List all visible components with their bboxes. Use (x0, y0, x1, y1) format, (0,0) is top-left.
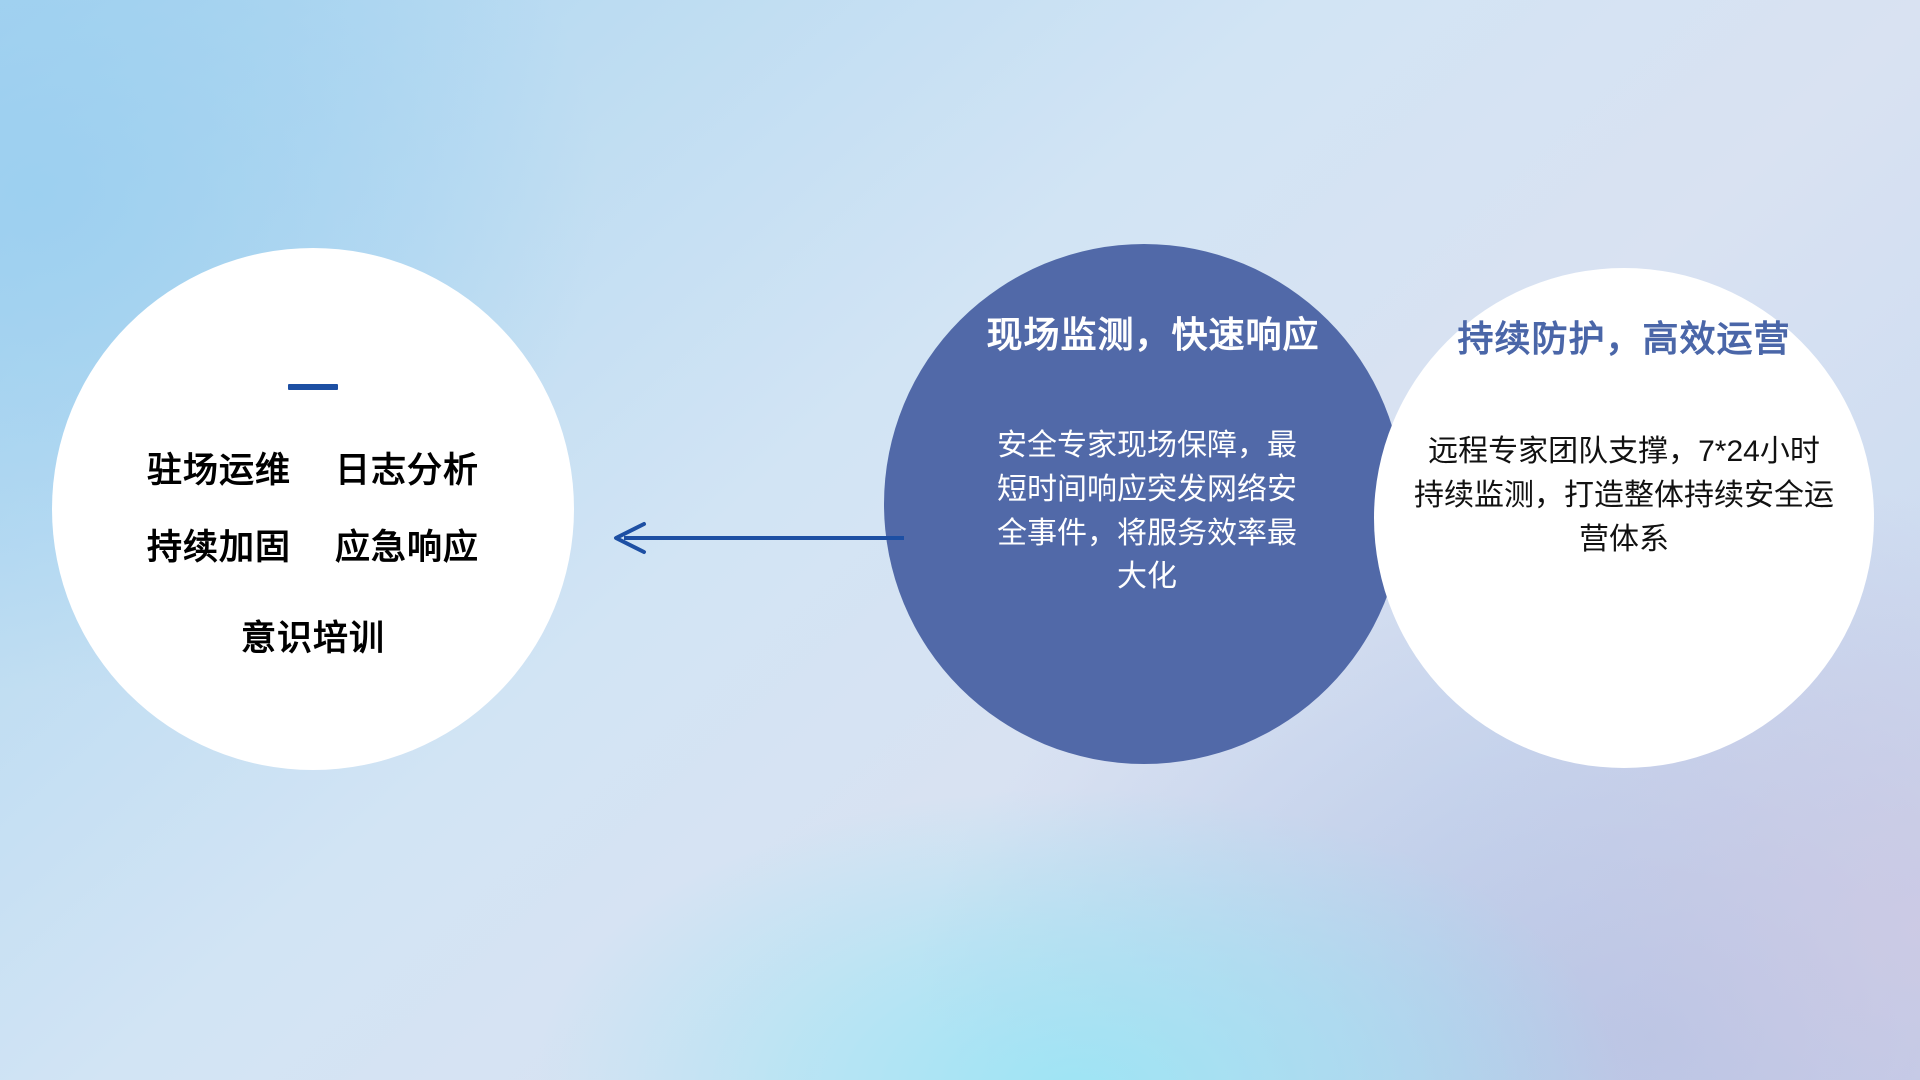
capability-tag-row: 驻场运维 日志分析 (147, 442, 479, 493)
leftward-flow-arrow (604, 516, 904, 560)
capability-tag[interactable]: 日志分析 (335, 442, 479, 493)
capability-tag[interactable]: 意识培训 (241, 610, 385, 661)
capability-tag-row: 持续加固 应急响应 (147, 519, 479, 570)
capability-tag[interactable]: 应急响应 (335, 519, 479, 570)
slide-canvas: 现场监测，快速响应 安全专家现场保障，最短时间响应突发网络安全事件，将服务效率最… (0, 0, 1920, 1080)
onsite-monitoring-title: 现场监测，快速响应 (986, 306, 1319, 358)
capability-tags-content: 驻场运维 日志分析 持续加固 应急响应 意识培训 (52, 248, 574, 687)
capability-tag-row: 意识培训 (241, 610, 385, 661)
onsite-monitoring-body: 安全专家现场保障，最短时间响应突发网络安全事件，将服务效率最大化 (988, 424, 1306, 599)
capability-tags-circle[interactable]: 驻场运维 日志分析 持续加固 应急响应 意识培训 (52, 248, 574, 770)
capability-tag[interactable]: 驻场运维 (147, 442, 291, 493)
onsite-monitoring-content: 现场监测，快速响应 安全专家现场保障，最短时间响应突发网络安全事件，将服务效率最… (884, 244, 1404, 599)
capability-tag[interactable]: 持续加固 (147, 519, 291, 570)
continuous-protection-body: 远程专家团队支撑，7*24小时持续监测，打造整体持续安全运营体系 (1414, 430, 1834, 561)
onsite-monitoring-circle[interactable]: 现场监测，快速响应 安全专家现场保障，最短时间响应突发网络安全事件，将服务效率最… (884, 244, 1404, 764)
accent-dash-icon (288, 384, 338, 390)
continuous-protection-content: 持续防护，高效运营 远程专家团队支撑，7*24小时持续监测，打造整体持续安全运营… (1374, 268, 1874, 561)
continuous-protection-circle[interactable]: 持续防护，高效运营 远程专家团队支撑，7*24小时持续监测，打造整体持续安全运营… (1374, 268, 1874, 768)
continuous-protection-title: 持续防护，高效运营 (1457, 310, 1790, 362)
